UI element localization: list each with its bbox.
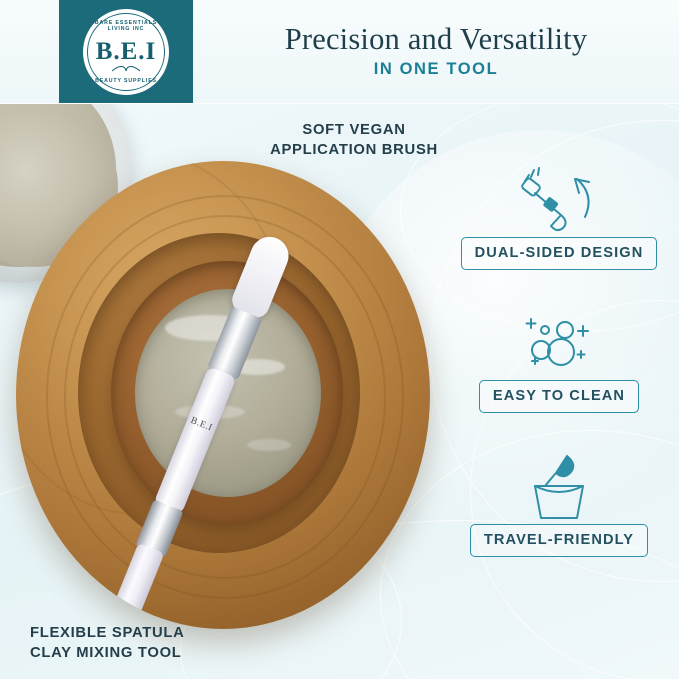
clay-highlight: [247, 439, 291, 451]
page-subtitle: IN ONE TOOL: [193, 60, 679, 79]
feature-dual-sided-design: DUAL-SIDED DESIGN: [459, 163, 659, 270]
feature-label-dual-sided-design: DUAL-SIDED DESIGN: [461, 237, 658, 270]
feature-travel-friendly: TRAVEL-FRIENDLY: [459, 450, 659, 557]
brand-logo-arc-top: BARE ESSENTIALS LIVING INC: [83, 20, 169, 32]
callout-brush-line-1: SOFT VEGAN: [254, 121, 454, 141]
brand-logo: BARE ESSENTIALS LIVING INC B.E.I BEAUTY …: [59, 0, 193, 103]
bubbles-sparkle-icon: [459, 306, 659, 380]
feature-label-travel-friendly: TRAVEL-FRIENDLY: [470, 524, 648, 557]
product-infographic: B.E.I Precision and Versatility IN ONE T…: [0, 0, 679, 679]
brush-handle-lower: [95, 543, 164, 629]
brand-logo-circle: BARE ESSENTIALS LIVING INC B.E.I BEAUTY …: [83, 9, 169, 95]
leaf-icon: [111, 65, 141, 73]
product-photo: B.E.I: [0, 103, 470, 679]
callout-spatula-line-1: FLEXIBLE SPATULA: [30, 624, 270, 644]
feature-easy-to-clean: EASY TO CLEAN: [459, 306, 659, 413]
brush-in-pouch-icon: [459, 450, 659, 524]
page-title: Precision and Versatility: [193, 22, 679, 57]
callout-spatula: FLEXIBLE SPATULA CLAY MIXING TOOL: [30, 624, 270, 663]
feature-label-easy-to-clean: EASY TO CLEAN: [479, 380, 639, 413]
callout-brush-line-2: APPLICATION BRUSH: [254, 141, 454, 161]
brand-logo-arc-bottom: BEAUTY SUPPLIES: [83, 78, 169, 84]
dual-sided-brush-rotate-icon: [459, 163, 659, 237]
callout-brush: SOFT VEGAN APPLICATION BRUSH: [254, 121, 454, 160]
wooden-board: B.E.I: [16, 161, 430, 629]
callout-spatula-line-2: CLAY MIXING TOOL: [30, 644, 270, 664]
